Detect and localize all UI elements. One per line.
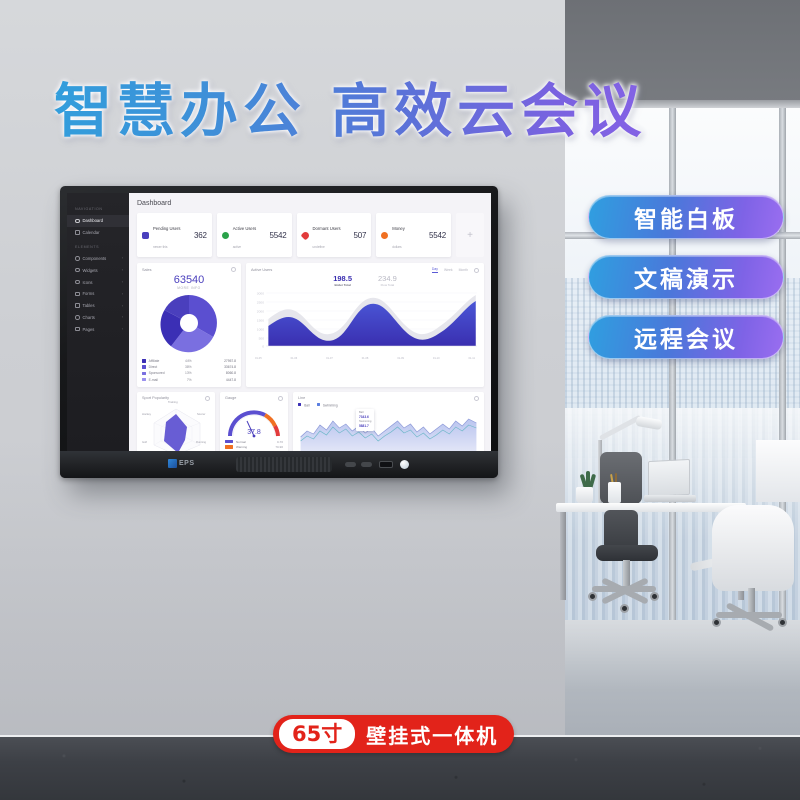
chart-row-bottom: Sport Popularity <box>137 392 484 451</box>
chevron-right-icon: › <box>122 256 123 260</box>
usb-port-icon <box>379 461 393 468</box>
charts-icon <box>75 315 80 320</box>
page-title: 智慧办公 高效云会议 <box>0 64 700 148</box>
stat-text: Active Users active <box>233 217 266 253</box>
side-cabinet <box>756 440 800 502</box>
radar-axis-label: Running <box>196 441 206 444</box>
area-x-axis: 01-05 01-06 01-07 01-08 01-09 01-10 01-1… <box>251 357 479 360</box>
product-badge: 65寸 壁挂式一体机 <box>273 715 514 753</box>
power-button[interactable] <box>400 460 409 469</box>
display-screen: NAVIGATION Dashboard Calendar ELEMENTS C… <box>67 193 491 451</box>
coin-icon <box>381 232 388 239</box>
stat-text: Money dollars <box>392 217 425 253</box>
stat-label: Dormant Users <box>313 226 341 231</box>
chevron-right-icon: › <box>122 268 123 272</box>
sidebar-item-label: Components <box>83 256 107 261</box>
boiler-total-label: Boiler Total <box>333 283 352 287</box>
svg-text:3000: 3000 <box>257 292 265 296</box>
radar-axis-label: Soccer <box>197 413 205 416</box>
radar-axis-label: Golf <box>142 441 147 444</box>
chair-caster <box>620 604 629 613</box>
donut-svg <box>158 292 220 354</box>
pencil-cup <box>608 482 621 503</box>
gear-icon[interactable] <box>474 268 479 273</box>
legend-label: Warning <box>236 445 247 449</box>
radar-axis-label: Hockey <box>142 413 151 416</box>
tooltip-series2-value: 5881.7 <box>359 424 371 429</box>
boiler-total-value: 198.5 <box>333 275 352 283</box>
stat-card-money[interactable]: Money dollars 5542 <box>376 213 451 257</box>
sidebar-item-label: Dashboard <box>83 218 104 223</box>
chart-row-top: Sales 63540 MORE INFO <box>137 263 484 387</box>
gear-icon[interactable] <box>205 396 210 401</box>
stat-value: 507 <box>354 231 367 240</box>
legend-swatch <box>317 403 320 406</box>
plant-pot <box>576 487 593 503</box>
line-svg <box>298 407 479 451</box>
sidebar-item-icons[interactable]: Icons › <box>67 276 129 288</box>
white-chair-back <box>712 505 794 591</box>
desk-leg <box>560 512 566 600</box>
legend-swatch <box>142 378 146 382</box>
gauge-chart: 37.8 <box>225 403 283 439</box>
dashboard-main: Dashboard Pending Users newer this 362 <box>129 193 491 451</box>
stat-label: Money <box>392 226 405 231</box>
sales-more-info-label: MORE INFO <box>142 286 236 290</box>
chevron-right-icon: › <box>122 327 123 331</box>
sidebar-item-calendar[interactable]: Calendar <box>67 227 129 239</box>
card-title: Active Users <box>251 268 272 272</box>
office-chair-seat <box>596 545 658 561</box>
card-header: Line <box>298 396 479 401</box>
stat-card-dormant-users[interactable]: Dormant Users undefine 507 <box>297 213 372 257</box>
totals-row: 198.5 Boiler Total 234.9 Flow Total <box>251 275 479 287</box>
card-header: Sales <box>142 267 236 272</box>
stat-sub: dollars <box>392 245 401 249</box>
chair-caster <box>712 618 721 627</box>
line-chart-card: Line Ball Swimming <box>293 392 484 451</box>
gear-icon[interactable] <box>231 267 236 272</box>
stat-sub: undefine <box>313 245 325 249</box>
stat-value: 5542 <box>270 231 287 240</box>
x-tick: 01-06 <box>291 357 298 360</box>
dashboard-page-title: Dashboard <box>137 200 484 207</box>
x-tick: 01-11 <box>468 357 474 360</box>
bookmark-icon <box>142 232 149 239</box>
laptop-screen <box>648 459 690 497</box>
legend-amount: 33674.8 <box>195 365 236 369</box>
tab-week[interactable]: Week <box>444 268 453 273</box>
legend-swatch <box>142 359 146 363</box>
legend-percent: 13% <box>178 371 192 375</box>
sidebar-item-pages[interactable]: Pages › <box>67 323 129 335</box>
chair-caster <box>650 592 659 601</box>
brand-name: EPS <box>179 460 195 467</box>
legend-label: Affiliate <box>149 359 175 363</box>
legend-label: E-mail <box>149 378 175 382</box>
chevron-right-icon: › <box>122 292 123 296</box>
svg-text:2500: 2500 <box>257 301 265 305</box>
legend-amount: 27957.8 <box>195 359 236 363</box>
legend-percent: 7% <box>178 378 192 382</box>
gear-icon[interactable] <box>278 396 283 401</box>
chair-post <box>623 560 630 588</box>
office-chair-spine <box>604 510 638 550</box>
card-header: Active Users Day Week Month <box>251 267 479 273</box>
sport-popularity-card: Sport Popularity <box>137 392 215 451</box>
legend-label: Normal <box>236 440 246 444</box>
product-type-label: 壁挂式一体机 <box>366 720 498 749</box>
legend-label: Direct <box>149 365 175 369</box>
sidebar-item-label: Widgets <box>83 268 98 273</box>
components-icon <box>75 256 80 261</box>
sidebar-item-components[interactable]: Components › <box>67 253 129 265</box>
sidebar-section-header: NAVIGATION <box>67 201 129 215</box>
x-tick: 01-10 <box>433 357 440 360</box>
sidebar-item-tables[interactable]: Tables › <box>67 300 129 312</box>
add-card-button[interactable]: + <box>456 213 484 257</box>
legend-item: E-mail 7% 4447.8 <box>142 377 236 383</box>
tab-day[interactable]: Day <box>432 267 438 273</box>
sidebar-item-label: Charts <box>83 315 95 320</box>
stat-text: Pending Users newer this <box>153 217 190 253</box>
legend-percent: 38% <box>178 365 192 369</box>
sidebar-item-charts[interactable]: Charts › <box>67 311 129 323</box>
card-title: Gauge <box>225 396 236 400</box>
sidebar-item-label: Forms <box>83 291 95 296</box>
pages-icon <box>75 327 80 332</box>
svg-text:500: 500 <box>259 337 265 341</box>
flow-total: 234.9 Flow Total <box>378 275 397 287</box>
flow-total-value: 234.9 <box>378 275 397 283</box>
flow-total-label: Flow Total <box>378 283 397 287</box>
stat-card-row: Pending Users newer this 362 Active User… <box>137 213 484 257</box>
active-users-area-card: Active Users Day Week Month 198.5 <box>246 263 484 387</box>
dashboard-sidebar: NAVIGATION Dashboard Calendar ELEMENTS C… <box>67 193 129 451</box>
feature-pill-whiteboard[interactable]: 智能白板 <box>588 195 784 239</box>
widgets-icon <box>75 268 80 273</box>
svg-text:0: 0 <box>262 345 264 349</box>
period-tabs: Day Week Month <box>432 267 479 273</box>
legend-range: 70-90 <box>275 445 283 449</box>
feature-pill-remote-meeting[interactable]: 远程会议 <box>588 315 784 359</box>
heart-icon <box>300 230 310 240</box>
x-tick: 01-08 <box>362 357 369 360</box>
legend-amount: 4447.8 <box>195 378 236 382</box>
line-chart: Ball 7343.6 Swimming 5881.7 <box>298 407 479 451</box>
forms-icon <box>75 292 80 297</box>
tab-month[interactable]: Month <box>459 268 468 273</box>
legend-percent: 44% <box>178 359 192 363</box>
card-title: Sales <box>142 268 152 272</box>
chair-caster <box>588 592 597 601</box>
stat-text: Dormant Users undefine <box>313 217 350 253</box>
gauge-value: 37.8 <box>225 429 283 436</box>
legend-swatch <box>225 445 233 448</box>
wall-mounted-display: NAVIGATION Dashboard Calendar ELEMENTS C… <box>60 186 498 478</box>
stat-card-active-users[interactable]: Active Users active 5542 <box>217 213 292 257</box>
office-chair-back <box>600 452 642 504</box>
legend-label: Sponsored <box>149 371 175 375</box>
x-tick: 01-07 <box>326 357 333 360</box>
sidebar-item-label: Calendar <box>83 230 100 235</box>
desk-surface <box>556 503 746 512</box>
radar-svg <box>142 403 210 451</box>
legend-swatch <box>298 403 301 406</box>
stat-value: 5542 <box>429 231 446 240</box>
monitor-bottom-bezel: EPS <box>60 451 498 478</box>
legend-swatch <box>142 372 146 376</box>
stat-sub: active <box>233 245 241 249</box>
stat-label: Active Users <box>233 226 257 231</box>
radar-axis-label: Training <box>168 401 178 404</box>
stat-card-pending-users[interactable]: Pending Users newer this 362 <box>137 213 212 257</box>
brand-logo: EPS <box>168 459 195 468</box>
stat-label: Pending Users <box>153 226 180 231</box>
stat-sub: newer this <box>153 245 168 249</box>
gear-icon[interactable] <box>474 396 479 401</box>
svg-text:1500: 1500 <box>257 319 265 323</box>
calendar-icon <box>75 230 80 235</box>
wall-shadow <box>0 440 565 737</box>
speaker-grille <box>236 457 332 472</box>
chevron-right-icon: › <box>122 315 123 319</box>
chair-caster <box>778 618 787 627</box>
legend-swatch <box>225 440 233 443</box>
sidebar-item-forms[interactable]: Forms › <box>67 288 129 300</box>
sidebar-item-dashboard[interactable]: Dashboard <box>67 215 129 227</box>
svg-text:2000: 2000 <box>257 310 265 314</box>
sidebar-item-widgets[interactable]: Widgets › <box>67 264 129 276</box>
icons-icon <box>75 280 80 285</box>
legend-swatch <box>142 365 146 369</box>
product-size-label: 65寸 <box>279 719 355 749</box>
chevron-right-icon: › <box>122 280 123 284</box>
radar-chart: Training Soccer Running Basketball Golf … <box>142 403 210 451</box>
circle-icon <box>222 232 229 239</box>
control-button[interactable] <box>361 462 372 467</box>
chair-post <box>748 588 755 614</box>
x-tick: 01-05 <box>255 357 262 360</box>
sidebar-item-label: Pages <box>83 327 95 332</box>
sidebar-item-label: Tables <box>83 303 95 308</box>
card-header: Gauge <box>225 396 283 401</box>
gauge-card: Gauge 37.8 <box>220 392 288 451</box>
card-title: Line <box>298 396 305 400</box>
stat-value: 362 <box>194 231 207 240</box>
sales-total-value: 63540 <box>142 274 236 286</box>
legend-amount: 8060.8 <box>195 371 236 375</box>
boiler-total: 198.5 Boiler Total <box>333 275 352 287</box>
legend-range: 0-70 <box>277 440 283 444</box>
sales-donut-chart <box>142 292 236 354</box>
sales-card: Sales 63540 MORE INFO <box>137 263 241 387</box>
sidebar-item-label: Icons <box>83 280 93 285</box>
control-button[interactable] <box>345 462 356 467</box>
feature-pill-list: 智能白板 文稿演示 远程会议 <box>588 195 784 375</box>
card-title: Sport Popularity <box>142 396 169 400</box>
feature-pill-presentation[interactable]: 文稿演示 <box>588 255 784 299</box>
brand-mark-icon <box>168 459 177 468</box>
office-floor <box>565 620 800 737</box>
x-tick: 01-09 <box>397 357 404 360</box>
sidebar-section-header: ELEMENTS <box>67 239 129 253</box>
svg-text:1000: 1000 <box>257 328 265 332</box>
chevron-right-icon: › <box>122 304 123 308</box>
home-icon <box>75 219 80 224</box>
laptop-base <box>644 495 696 502</box>
line-tooltip: Ball 7343.6 Swimming 5881.7 <box>356 409 374 431</box>
poster-stage: 智慧办公 高效云会议 智能白板 文稿演示 远程会议 65寸 壁挂式一体机 NAV… <box>0 0 800 800</box>
area-chart-svg: 30002500 20001500 1000500 0 <box>251 289 479 351</box>
tables-icon <box>75 303 80 308</box>
